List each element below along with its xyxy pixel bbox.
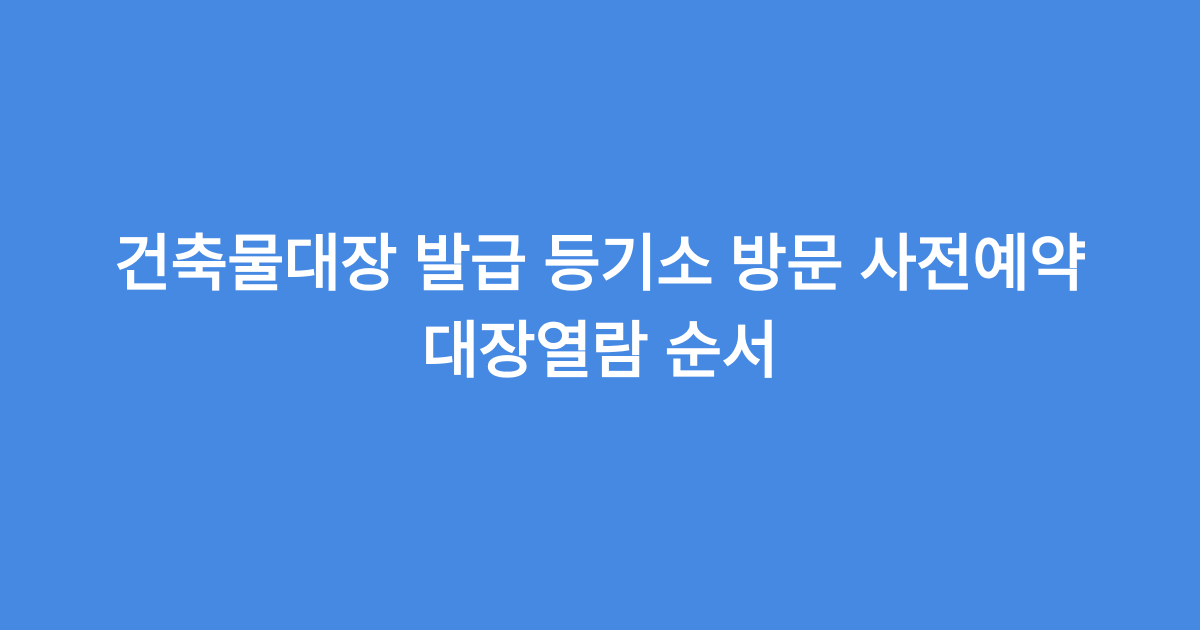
page-title: 건축물대장 발급 등기소 방문 사전예약 대장열람 순서	[70, 221, 1130, 395]
title-block: 건축물대장 발급 등기소 방문 사전예약 대장열람 순서	[50, 221, 1150, 395]
og-title-card: 건축물대장 발급 등기소 방문 사전예약 대장열람 순서	[0, 0, 1200, 630]
